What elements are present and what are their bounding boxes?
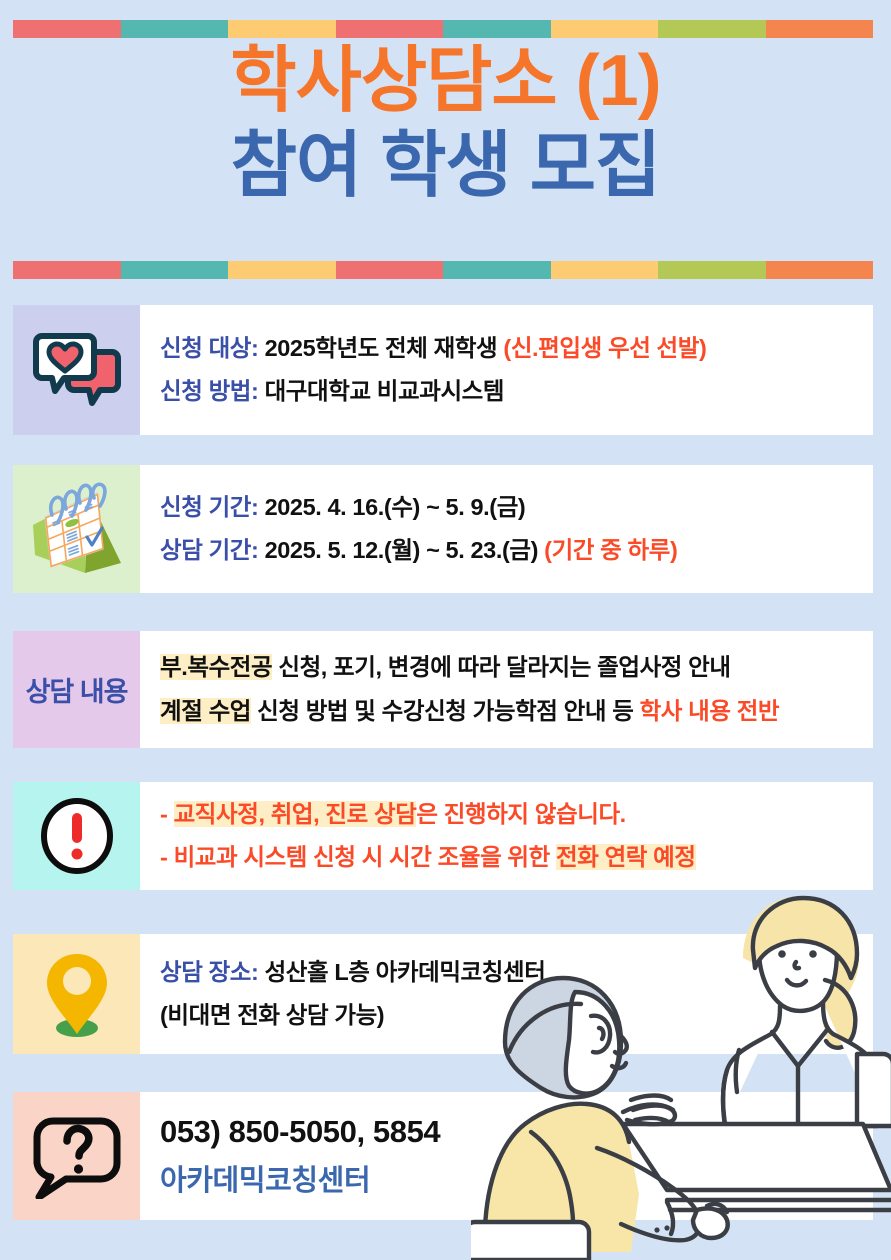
- stripe-segment-3: [336, 20, 444, 38]
- line-content-major: 부.복수전공 신청, 포기, 변경에 따라 달라지는 졸업사정 안내: [160, 656, 857, 680]
- chat-bubbles-heart-icon-panel: [13, 305, 140, 435]
- highlight-excluded-topics: 교직사정, 취업, 진로 상담: [174, 801, 417, 827]
- text-content-season-tail: 학사 내용 전반: [640, 698, 780, 724]
- value-location: 성산홀 L층 아카데믹코칭센터: [258, 959, 545, 985]
- note-application-target: (신.편입생 우선 선발): [503, 335, 706, 361]
- top-color-stripe-bar: [13, 20, 873, 38]
- card-counseling-content: 상담 내용 부.복수전공 신청, 포기, 변경에 따라 달라지는 졸업사정 안내…: [13, 631, 873, 748]
- question-speech-bubble-icon-panel: [13, 1092, 140, 1220]
- card-location: 상담 장소: 성산홀 L층 아카데믹코칭센터 (비대면 전화 상담 가능): [13, 934, 873, 1054]
- line-application-target: 신청 대상: 2025학년도 전체 재학생 (신.편입생 우선 선발): [160, 337, 857, 361]
- counseling-content-label-panel: 상담 내용: [13, 631, 140, 748]
- card-application-body: 신청 대상: 2025학년도 전체 재학생 (신.편입생 우선 선발) 신청 방…: [140, 305, 873, 435]
- text-content-season: 신청 방법 및 수강신청 가능학점 안내 등: [251, 698, 640, 724]
- card-period-body: 신청 기간: 2025. 4. 16.(수) ~ 5. 9.(금) 상담 기간:…: [140, 465, 873, 593]
- card-notice: - 교직사정, 취업, 진로 상담은 진행하지 않습니다. - 비교과 시스템 …: [13, 782, 873, 890]
- value-application-period: 2025. 4. 16.(수) ~ 5. 9.(금): [258, 494, 525, 520]
- stripe-segment-4: [443, 20, 551, 38]
- stripe-segment-1: [121, 261, 229, 279]
- stripe-segment-5: [551, 20, 659, 38]
- stripe-segment-2: [228, 20, 336, 38]
- desk-calendar-icon: [25, 481, 129, 577]
- stripe-segment-5: [551, 261, 659, 279]
- map-pin-icon: [41, 948, 113, 1040]
- card-period-info: 신청 기간: 2025. 4. 16.(수) ~ 5. 9.(금) 상담 기간:…: [13, 465, 873, 593]
- bottom-color-stripe-bar: [13, 261, 873, 279]
- line-notice-1: - 교직사정, 취업, 진로 상담은 진행하지 않습니다.: [160, 803, 857, 827]
- line-counseling-period: 상담 기간: 2025. 5. 12.(월) ~ 5. 23.(금) (기간 중…: [160, 539, 857, 563]
- stripe-segment-2: [228, 261, 336, 279]
- dash-notice-2: -: [160, 844, 174, 870]
- label-counseling-period: 상담 기간:: [160, 537, 258, 563]
- label-application-target: 신청 대상:: [160, 335, 258, 361]
- stripe-segment-6: [658, 20, 766, 38]
- exclamation-circle-icon-panel: [13, 782, 140, 890]
- stripe-segment-1: [121, 20, 229, 38]
- chat-bubbles-heart-icon: [29, 327, 125, 413]
- card-notice-body: - 교직사정, 취업, 진로 상담은 진행하지 않습니다. - 비교과 시스템 …: [140, 782, 873, 890]
- stripe-segment-7: [766, 261, 874, 279]
- line-application-period: 신청 기간: 2025. 4. 16.(수) ~ 5. 9.(금): [160, 496, 857, 520]
- value-location-note: (비대면 전화 상담 가능): [160, 1002, 384, 1028]
- stripe-segment-3: [336, 261, 444, 279]
- stripe-segment-4: [443, 261, 551, 279]
- note-counseling-period: (기간 중 하루): [544, 537, 677, 563]
- title-line-2: 참여 학생 모집: [0, 131, 891, 202]
- text-content-major: 신청, 포기, 변경에 따라 달라지는 졸업사정 안내: [272, 654, 730, 680]
- desk-calendar-icon-panel: [13, 465, 140, 593]
- question-speech-bubble-icon: [31, 1113, 123, 1199]
- stripe-segment-0: [13, 20, 121, 38]
- value-counseling-period: 2025. 5. 12.(월) ~ 5. 23.(금): [258, 537, 544, 563]
- poster-root: 학사상담소 (1) 참여 학생 모집 신청 대상: 2025학년도 전체 재학생…: [0, 0, 891, 1260]
- title-line-1: 학사상담소 (1): [0, 46, 891, 117]
- line-location: 상담 장소: 성산홀 L층 아카데믹코칭센터: [160, 961, 857, 985]
- contact-phone-number: 053) 850-5050, 5854: [160, 1116, 857, 1147]
- stripe-segment-7: [766, 20, 874, 38]
- poster-title: 학사상담소 (1) 참여 학생 모집: [0, 46, 891, 201]
- map-pin-icon-panel: [13, 934, 140, 1054]
- label-application-method: 신청 방법:: [160, 378, 258, 404]
- label-application-period: 신청 기간:: [160, 494, 258, 520]
- label-location: 상담 장소:: [160, 959, 258, 985]
- stripe-segment-6: [658, 261, 766, 279]
- card-contact: 053) 850-5050, 5854 아카데믹코칭센터: [13, 1092, 873, 1220]
- card-counseling-content-body: 부.복수전공 신청, 포기, 변경에 따라 달라지는 졸업사정 안내 계절 수업…: [140, 631, 873, 748]
- highlight-double-major: 부.복수전공: [160, 654, 272, 680]
- counseling-content-label: 상담 내용: [26, 670, 128, 709]
- exclamation-circle-icon: [38, 797, 116, 875]
- text-notice-2: 비교과 시스템 신청 시 시간 조율을 위한: [174, 844, 556, 870]
- line-application-method: 신청 방법: 대구대학교 비교과시스템: [160, 380, 857, 404]
- card-contact-body: 053) 850-5050, 5854 아카데믹코칭센터: [140, 1092, 873, 1220]
- dash-notice-1: -: [160, 801, 174, 827]
- highlight-phone-contact: 전화 연락 예정: [556, 844, 696, 870]
- card-location-body: 상담 장소: 성산홀 L층 아카데믹코칭센터 (비대면 전화 상담 가능): [140, 934, 873, 1054]
- line-notice-2: - 비교과 시스템 신청 시 시간 조율을 위한 전화 연락 예정: [160, 846, 857, 870]
- card-application-info: 신청 대상: 2025학년도 전체 재학생 (신.편입생 우선 선발) 신청 방…: [13, 305, 873, 435]
- highlight-seasonal-class: 계절 수업: [160, 698, 251, 724]
- text-notice-1: 은 진행하지 않습니다.: [416, 801, 625, 827]
- value-application-target: 2025학년도 전체 재학생: [258, 335, 503, 361]
- line-location-note: (비대면 전화 상담 가능): [160, 1004, 857, 1028]
- stripe-segment-0: [13, 261, 121, 279]
- contact-department-name: 아카데믹코칭센터: [160, 1167, 857, 1196]
- line-content-season: 계절 수업 신청 방법 및 수강신청 가능학점 안내 등 학사 내용 전반: [160, 700, 857, 724]
- value-application-method: 대구대학교 비교과시스템: [258, 378, 504, 404]
